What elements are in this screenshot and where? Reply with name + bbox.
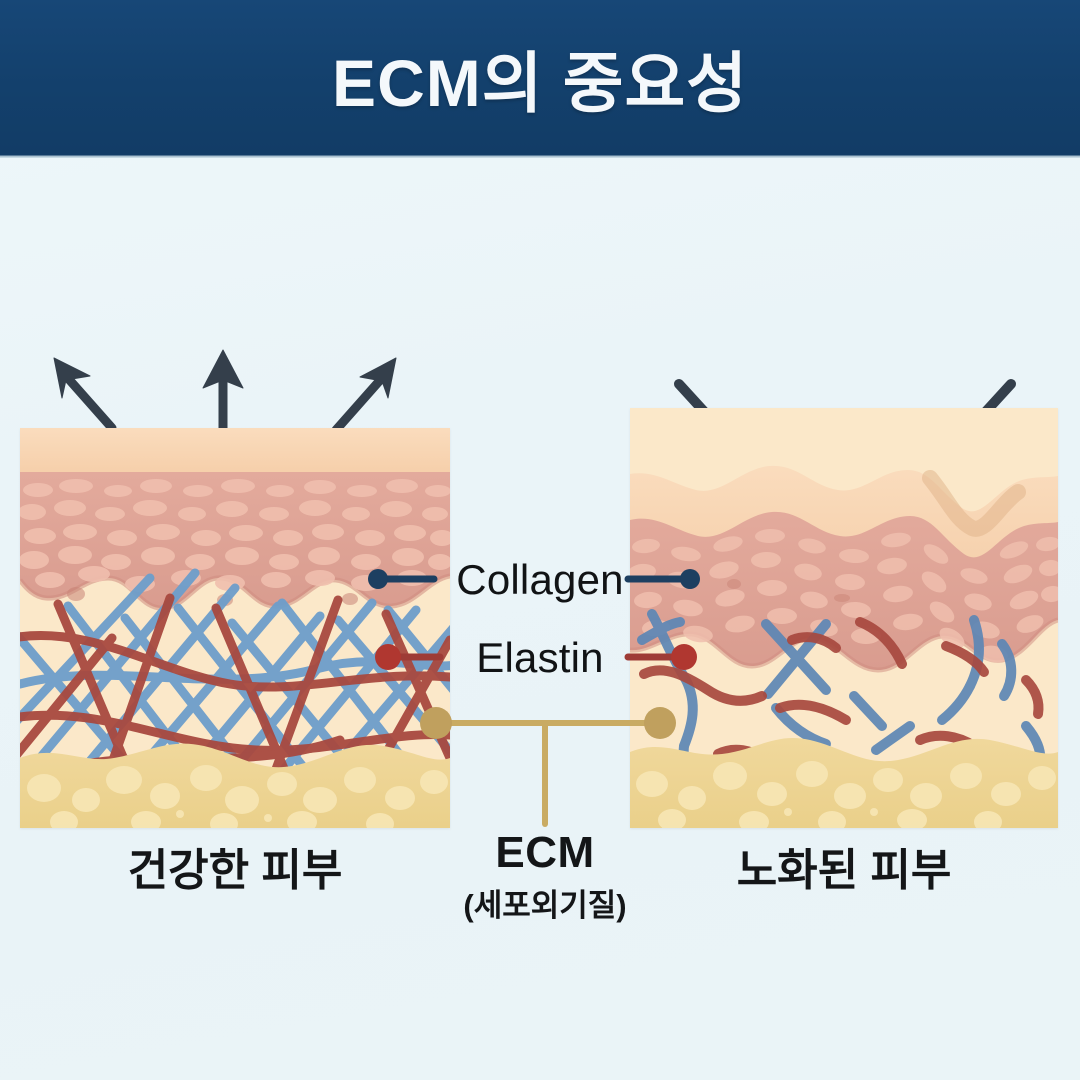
legend-label-elastin: Elastin (462, 634, 618, 682)
arrow-up-icon (54, 358, 112, 428)
caption-ecm-title: ECM (420, 828, 670, 878)
caption-ecm: ECM (세포외기질) (420, 828, 670, 925)
arrow-up-icon (336, 358, 396, 430)
legend-label-collagen: Collagen (455, 556, 625, 604)
caption-healthy-skin: 건강한 피부 (20, 834, 450, 898)
caption-aged-skin: 노화된 피부 (630, 834, 1058, 898)
arrow-up-group (40, 346, 420, 436)
header-bar: ECM의 중요성 (0, 0, 1080, 156)
diagram-stage: Collagen Elastin 건강한 피부 노화된 피부 ECM (세포외기… (0, 156, 1080, 1080)
layer-epidermis (20, 428, 450, 473)
arrow-up-icon (203, 350, 243, 432)
infographic-root: ECM의 중요성 (0, 0, 1080, 1080)
caption-ecm-subtitle: (세포외기질) (420, 880, 670, 925)
aged-skin-diagram (630, 408, 1058, 828)
healthy-skin-diagram (20, 428, 450, 828)
page-title: ECM의 중요성 (332, 30, 748, 126)
